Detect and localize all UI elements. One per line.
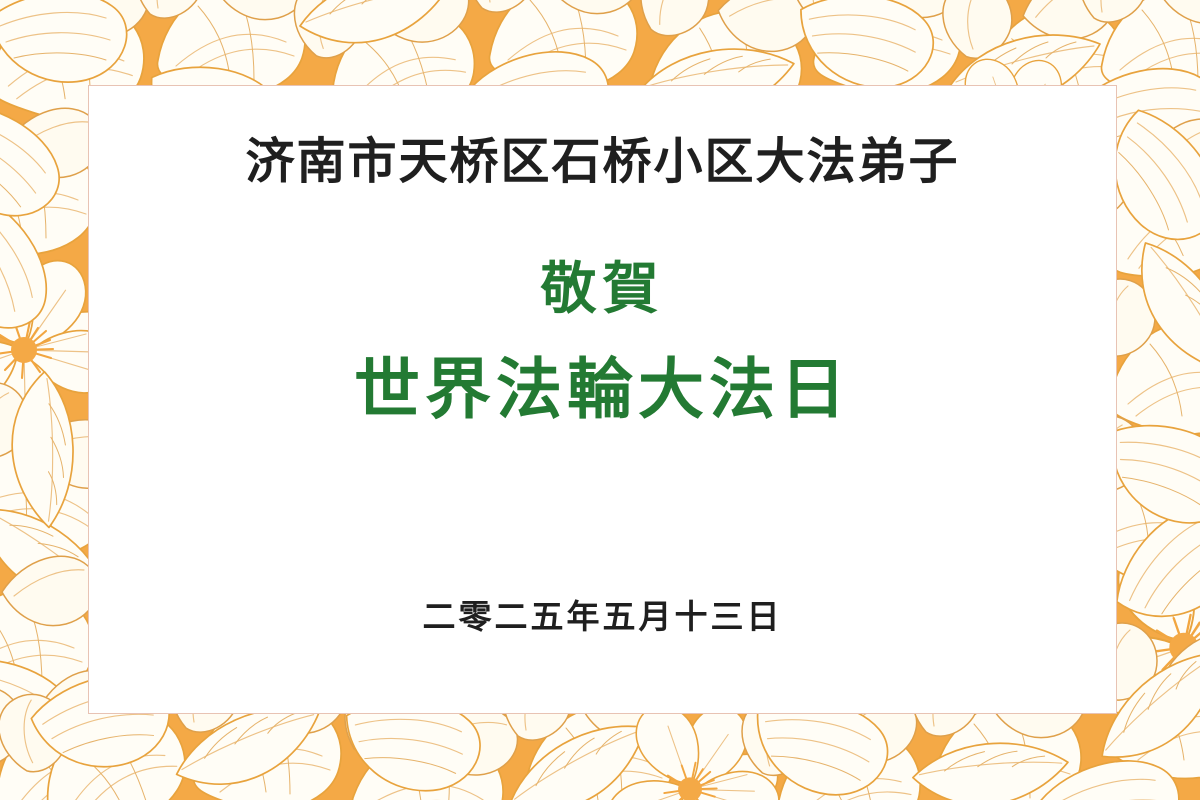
date-line: 二零二五年五月十三日: [89, 598, 1116, 636]
headline-line: 世界法輪大法日: [89, 352, 1116, 426]
greeting-poster: .pet { fill:#FFFDF6; stroke:#E8A33D; str…: [0, 0, 1200, 800]
message-card: 济南市天桥区石桥小区大法弟子 敬賀 世界法輪大法日 二零二五年五月十三日: [88, 85, 1117, 714]
message-card-content: 济南市天桥区石桥小区大法弟子 敬賀 世界法輪大法日 二零二五年五月十三日: [89, 86, 1116, 713]
organization-line: 济南市天桥区石桥小区大法弟子: [89, 134, 1116, 188]
greeting-line: 敬賀: [89, 258, 1116, 320]
